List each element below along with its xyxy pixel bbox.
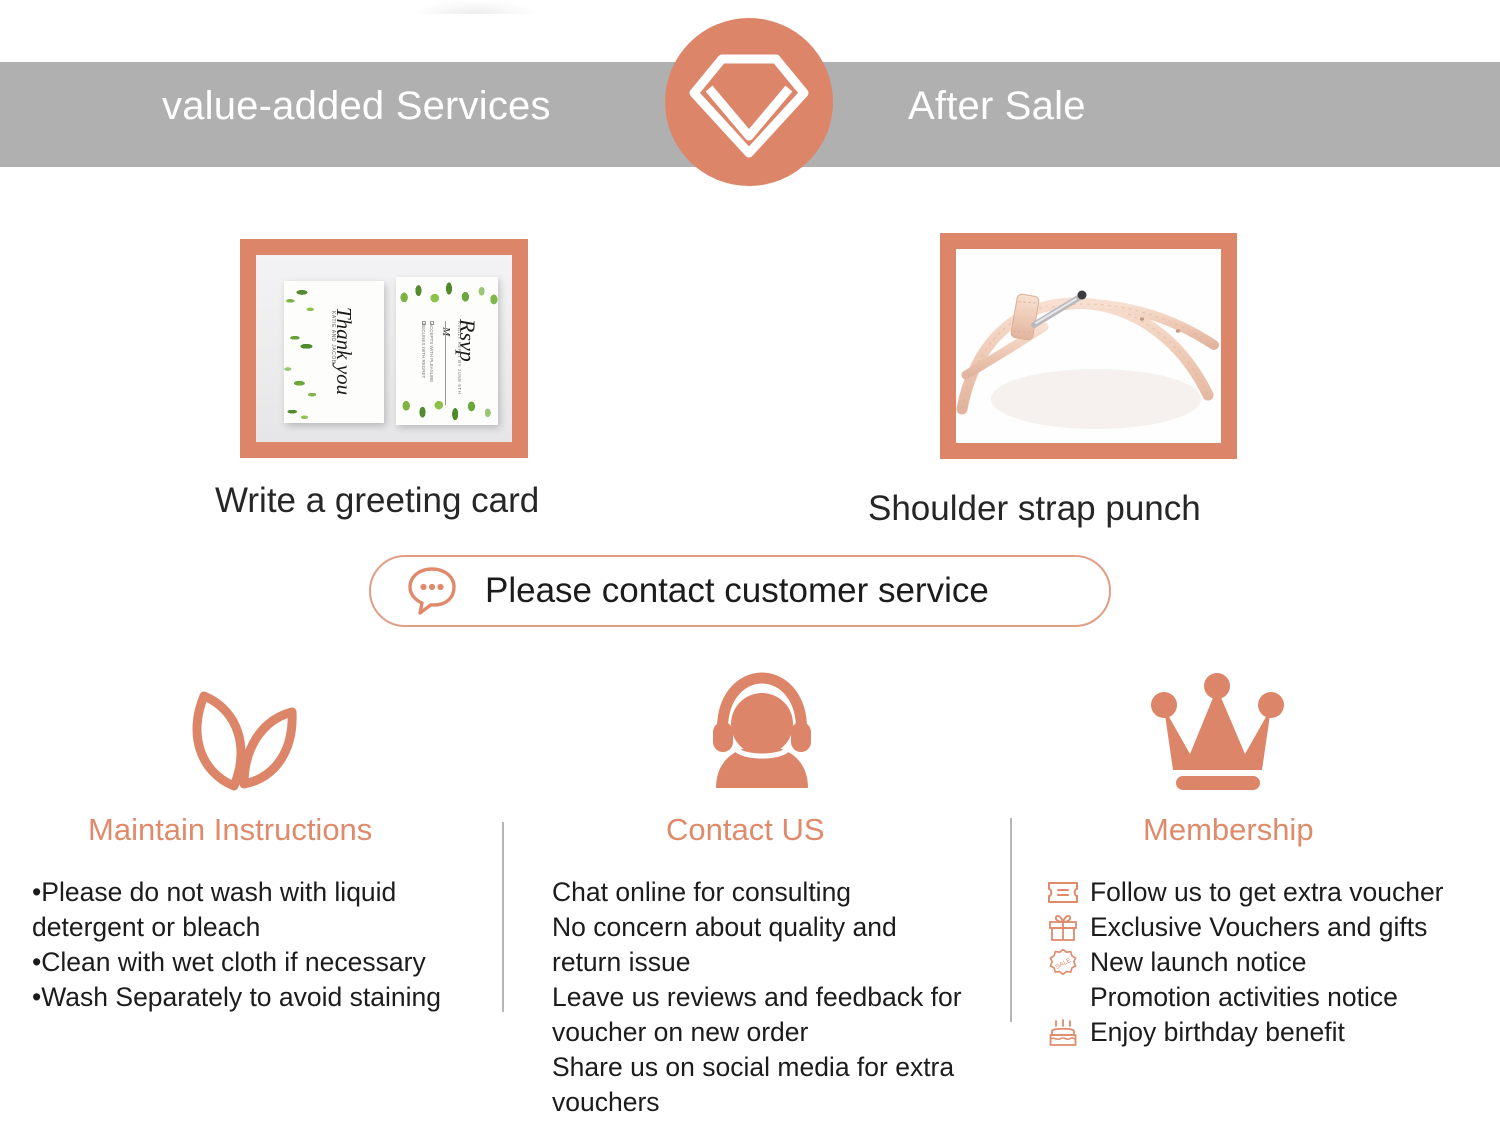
list-item: Promotion activities notice <box>1046 980 1476 1015</box>
top-smudge-artifact <box>410 0 540 14</box>
crown-icon <box>1150 672 1285 797</box>
contact-line: return issue <box>552 945 982 980</box>
maintain-line: •Please do not wash with liquid <box>32 875 472 910</box>
foliage-decoration <box>284 281 316 423</box>
birthday-cake-icon <box>1046 1019 1080 1047</box>
thank-you-card: Thank you KATIE AND JACOB <box>284 281 384 423</box>
two-leaves-icon <box>182 686 312 803</box>
list-item: Exclusive Vouchers and gifts <box>1046 910 1476 945</box>
contact-line: vouchers <box>552 1085 982 1120</box>
contact-customer-service-button[interactable]: Please contact customer service <box>369 555 1111 627</box>
contact-us-title: Contact US <box>666 812 825 848</box>
contact-line: Share us on social media for extra <box>552 1050 982 1085</box>
shoulder-strap-caption: Shoulder strap punch <box>868 489 1201 529</box>
membership-benefit-list: Follow us to get extra voucher Exclusive… <box>1046 875 1476 1050</box>
headset-agent-icon <box>707 672 817 793</box>
column-divider-right <box>1010 818 1012 1022</box>
header-right-title: After Sale <box>908 84 1086 129</box>
header-left-title: value-added Services <box>162 84 551 129</box>
rsvp-subtitle: KINDLY REPLY BY JUNE 5TH <box>457 321 462 394</box>
shoulder-strap-scene <box>956 249 1221 443</box>
contact-line: Chat online for consulting <box>552 875 982 910</box>
benefit-label: Promotion activities notice <box>1090 982 1398 1013</box>
contact-pill-label: Please contact customer service <box>485 571 989 611</box>
rsvp-option-accept: ACCEPTS WITH PLEASURE <box>429 323 434 382</box>
list-item: Follow us to get extra voucher <box>1046 875 1476 910</box>
gift-icon <box>1046 914 1080 942</box>
maintain-line: •Clean with wet cloth if necessary <box>32 945 472 980</box>
shoulder-strap-photo <box>940 233 1237 459</box>
chat-bubble-icon <box>405 562 459 621</box>
thank-you-subtitle: KATIE AND JACOB <box>330 311 336 364</box>
contact-line: No concern about quality and <box>552 910 982 945</box>
contact-line: voucher on new order <box>552 1015 982 1050</box>
rsvp-name-prefix: M <box>440 327 452 336</box>
greeting-card-caption: Write a greeting card <box>215 481 539 521</box>
list-item: SALE New launch notice <box>1046 945 1476 980</box>
rsvp-option-decline: DECLINES WITH REGRET <box>421 323 426 378</box>
after-sale-infographic: value-added Services After Sale Thank yo… <box>0 0 1500 1145</box>
maintain-line: •Wash Separately to avoid staining <box>32 980 472 1015</box>
diamond-v-logo-icon <box>665 18 833 186</box>
benefit-label: Enjoy birthday benefit <box>1090 1017 1345 1048</box>
foliage-decoration-bottom <box>396 393 498 425</box>
benefit-label: Follow us to get extra voucher <box>1090 877 1444 908</box>
column-divider-left <box>502 822 504 1012</box>
sale-badge-icon: SALE <box>1046 949 1080 977</box>
benefit-label: Exclusive Vouchers and gifts <box>1090 912 1427 943</box>
greeting-card-scene: Thank you KATIE AND JACOB Rsvp KINDLY RE… <box>256 255 512 442</box>
list-item: Enjoy birthday benefit <box>1046 1015 1476 1050</box>
ticket-icon <box>1046 879 1080 907</box>
membership-title: Membership <box>1143 812 1314 848</box>
maintain-instructions-title: Maintain Instructions <box>88 812 372 848</box>
contact-line: Leave us reviews and feedback for <box>552 980 982 1015</box>
rsvp-name-rule <box>445 321 446 405</box>
svg-text:SALE: SALE <box>1054 956 1073 970</box>
greeting-card-photo: Thank you KATIE AND JACOB Rsvp KINDLY RE… <box>240 239 528 458</box>
contact-us-body: Chat online for consulting No concern ab… <box>552 875 982 1120</box>
maintain-instructions-body: •Please do not wash with liquid detergen… <box>32 875 472 1015</box>
rsvp-card: Rsvp KINDLY REPLY BY JUNE 5TH M ACCEPTS … <box>396 277 498 425</box>
maintain-line: detergent or bleach <box>32 910 472 945</box>
benefit-label: New launch notice <box>1090 947 1307 978</box>
foliage-decoration-top <box>396 277 498 311</box>
